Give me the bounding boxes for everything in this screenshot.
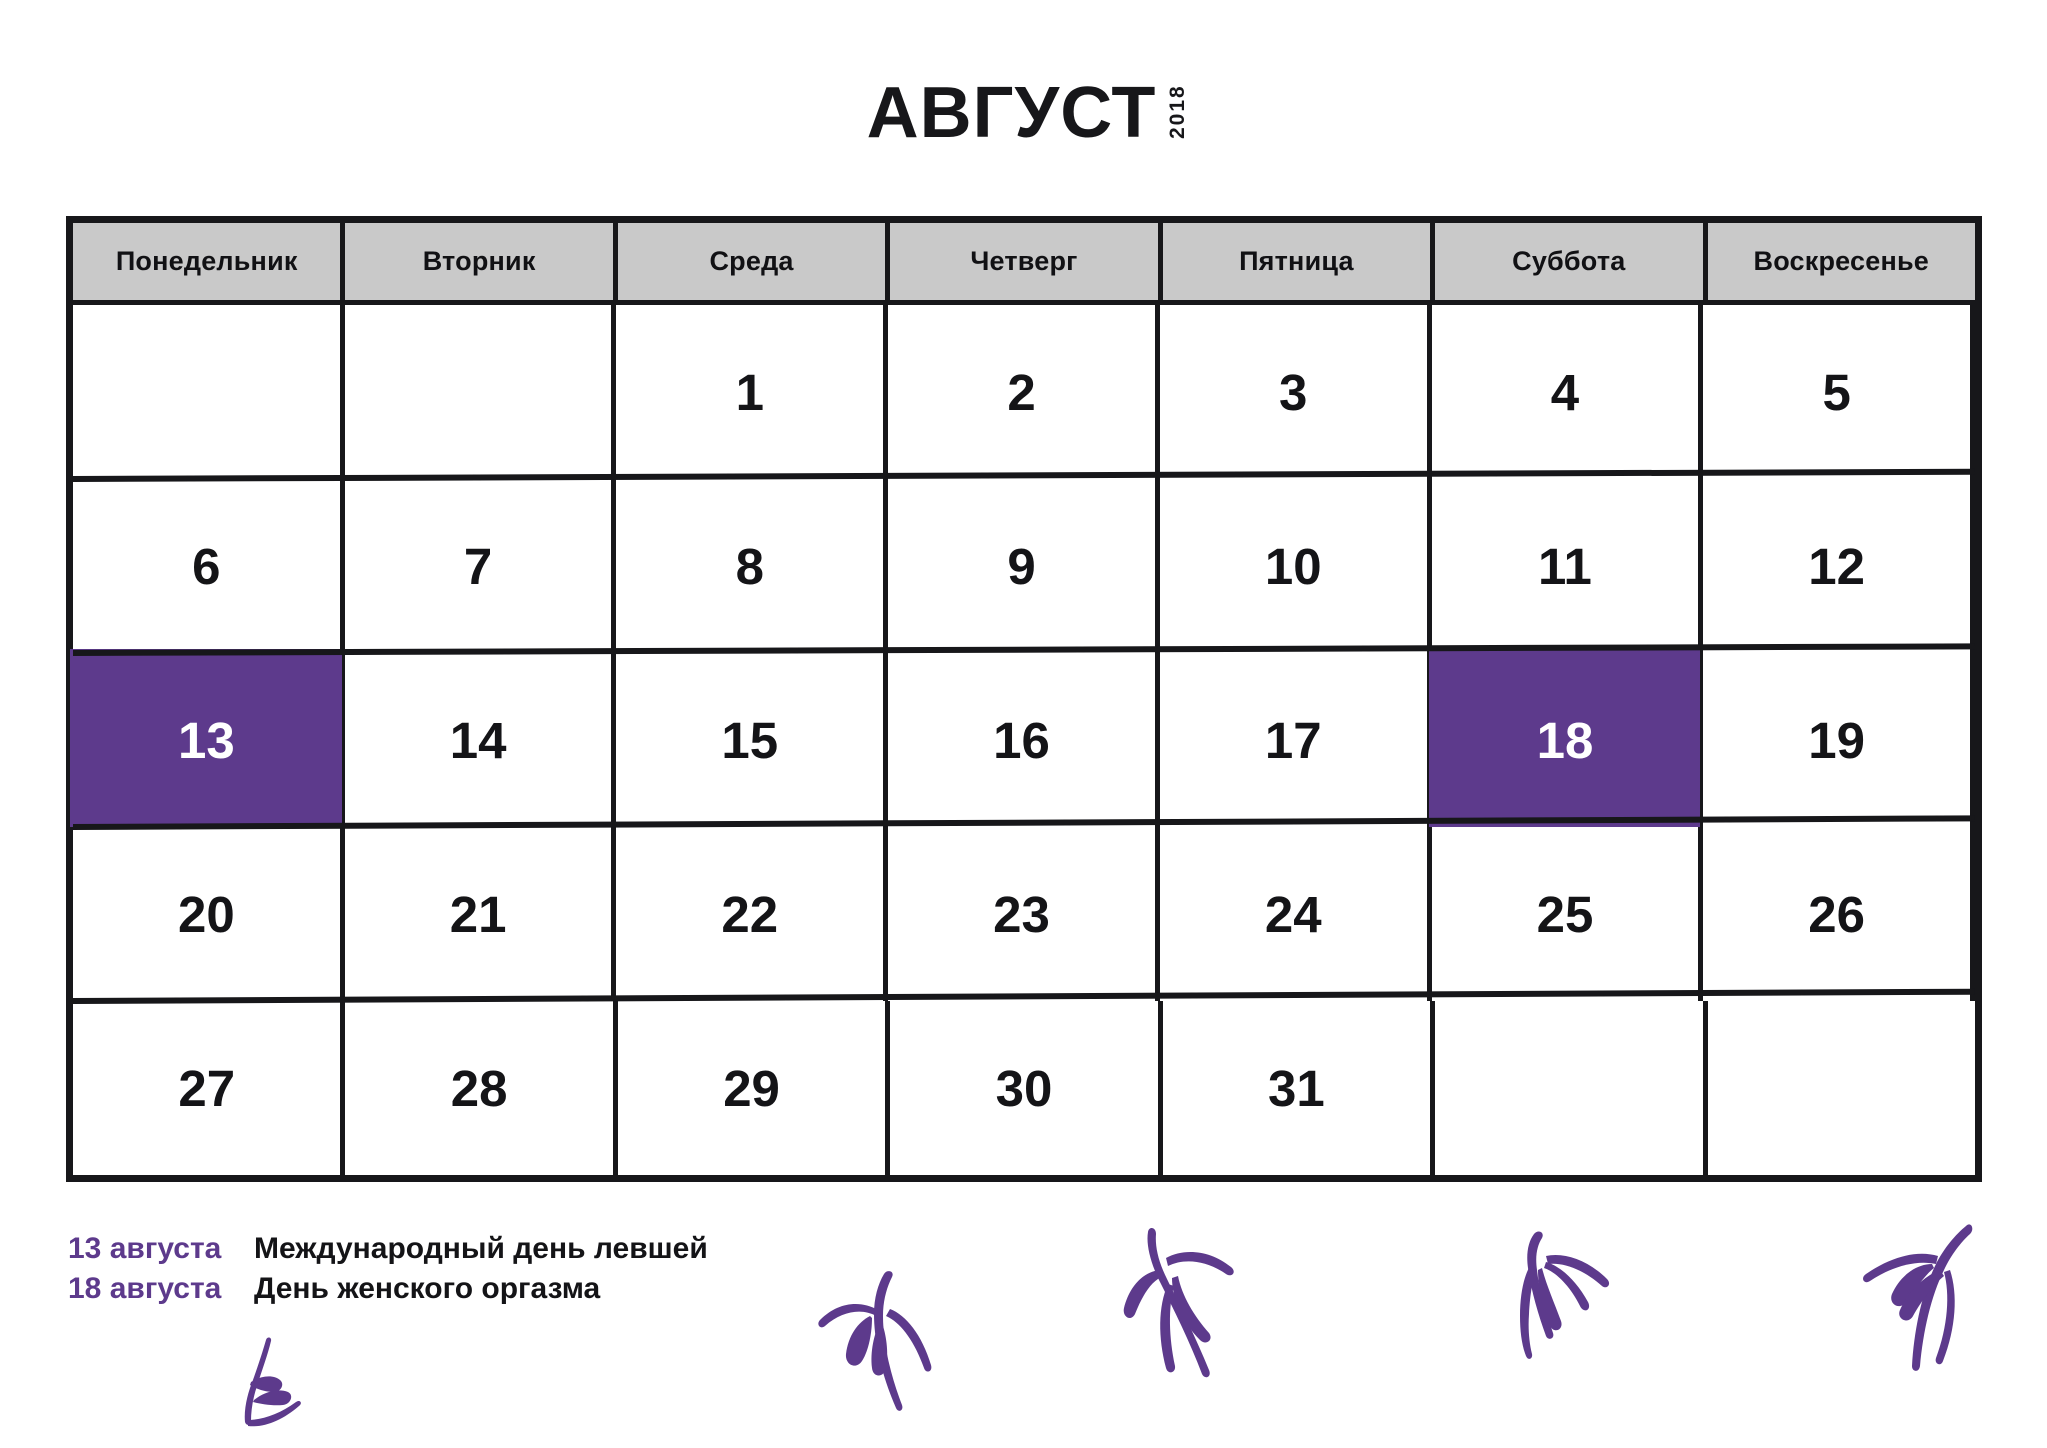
legend-description: Международный день левшей [254, 1232, 708, 1266]
day-number: 5 [1822, 367, 1850, 418]
weekday-header-row: Понедельник Вторник Среда Четверг Пятниц… [73, 223, 1975, 305]
day-number: 21 [450, 889, 507, 940]
day-cell[interactable]: 16 [888, 653, 1160, 827]
weekday-header-thursday: Четверг [890, 223, 1162, 305]
day-cell[interactable]: 2 [888, 305, 1160, 479]
day-number: 22 [721, 889, 778, 940]
day-cell[interactable]: 19 [1703, 653, 1975, 827]
sprig-ornament-icon [1858, 1218, 1998, 1388]
day-cell[interactable] [1708, 1001, 1975, 1175]
week-row: 13 14 15 16 17 18 19 [73, 653, 1975, 827]
sprig-ornament-icon [1110, 1222, 1280, 1412]
day-cell[interactable]: 5 [1703, 305, 1975, 479]
day-number: 4 [1551, 367, 1579, 418]
day-number: 27 [178, 1063, 235, 1114]
day-number: 8 [736, 541, 764, 592]
day-number: 16 [993, 715, 1050, 766]
week-row: 27 28 29 30 31 [73, 1001, 1975, 1175]
day-cell[interactable]: 30 [890, 1001, 1162, 1175]
day-cell[interactable]: 26 [1703, 827, 1975, 1001]
day-cell[interactable]: 8 [616, 479, 888, 653]
weekday-header-friday: Пятница [1163, 223, 1435, 305]
day-number: 14 [450, 715, 507, 766]
day-cell[interactable]: 25 [1432, 827, 1704, 1001]
day-cell[interactable]: 10 [1160, 479, 1432, 653]
legend-description: День женского оргазма [254, 1272, 600, 1306]
day-number: 15 [721, 715, 778, 766]
week-row: 6 7 8 9 10 11 12 [73, 479, 1975, 653]
day-cell[interactable] [73, 305, 345, 479]
day-cell[interactable]: 1 [616, 305, 888, 479]
day-number: 12 [1808, 541, 1865, 592]
day-number: 25 [1537, 889, 1594, 940]
day-number: 24 [1265, 889, 1322, 940]
day-cell[interactable]: 9 [888, 479, 1160, 653]
legend: 13 августа Международный день левшей 18 … [68, 1232, 968, 1312]
legend-item: 13 августа Международный день левшей [68, 1232, 968, 1266]
day-cell[interactable]: 20 [73, 827, 345, 1001]
day-cell[interactable]: 11 [1432, 479, 1704, 653]
month-title: АВГУСТ [867, 72, 1157, 154]
week-row: 20 21 22 23 24 25 26 [73, 827, 1975, 1001]
day-number: 3 [1279, 367, 1307, 418]
week-row: 1 2 3 4 5 [73, 305, 1975, 479]
day-cell[interactable]: 12 [1703, 479, 1975, 653]
weekday-header-tuesday: Вторник [345, 223, 617, 305]
day-number: 11 [1538, 541, 1592, 592]
day-number: 26 [1808, 889, 1865, 940]
day-cell[interactable]: 15 [616, 653, 888, 827]
day-number: 17 [1265, 715, 1322, 766]
day-number: 18 [1537, 715, 1594, 766]
calendar-page: АВГУСТ2018 Понедельник Вторник Среда Чет… [0, 0, 2047, 1448]
day-cell[interactable]: 14 [345, 653, 617, 827]
day-cell[interactable]: 22 [616, 827, 888, 1001]
day-number: 20 [178, 889, 235, 940]
weekday-header-monday: Понедельник [73, 223, 345, 305]
day-cell[interactable]: 31 [1163, 1001, 1435, 1175]
day-cell-highlighted[interactable]: 13 [73, 653, 345, 827]
day-number: 28 [451, 1063, 508, 1114]
day-number: 19 [1808, 715, 1865, 766]
day-cell[interactable] [1435, 1001, 1707, 1175]
year-label: 2018 [1166, 83, 1190, 141]
day-number: 6 [192, 541, 220, 592]
day-cell-highlighted[interactable]: 18 [1432, 653, 1704, 827]
weekday-header-wednesday: Среда [618, 223, 890, 305]
day-cell[interactable]: 24 [1160, 827, 1432, 1001]
weekday-header-sunday: Воскресенье [1708, 223, 1975, 305]
day-number: 10 [1265, 541, 1322, 592]
day-number: 23 [993, 889, 1050, 940]
legend-date: 18 августа [68, 1272, 254, 1306]
day-number: 13 [178, 715, 235, 766]
day-cell[interactable]: 27 [73, 1001, 345, 1175]
day-cell[interactable] [345, 305, 617, 479]
calendar-grid: Понедельник Вторник Среда Четверг Пятниц… [66, 216, 1982, 1182]
day-cell[interactable]: 7 [345, 479, 617, 653]
day-number: 29 [723, 1063, 780, 1114]
sprig-ornament-icon [1512, 1228, 1642, 1388]
day-number: 31 [1268, 1063, 1325, 1114]
legend-item: 18 августа День женского оргазма [68, 1272, 968, 1306]
day-cell[interactable]: 28 [345, 1001, 617, 1175]
weekday-header-saturday: Суббота [1435, 223, 1707, 305]
day-cell[interactable]: 3 [1160, 305, 1432, 479]
day-cell[interactable]: 17 [1160, 653, 1432, 827]
day-cell[interactable]: 23 [888, 827, 1160, 1001]
legend-date: 13 августа [68, 1232, 254, 1266]
day-cell[interactable]: 21 [345, 827, 617, 1001]
day-cell[interactable]: 29 [618, 1001, 890, 1175]
day-number: 9 [1007, 541, 1035, 592]
day-cell[interactable]: 4 [1432, 305, 1704, 479]
day-cell[interactable]: 6 [73, 479, 345, 653]
day-number: 30 [996, 1063, 1053, 1114]
day-number: 7 [464, 541, 492, 592]
day-number: 2 [1007, 367, 1035, 418]
page-title: АВГУСТ2018 [0, 72, 2047, 154]
sprig-ornament-icon [218, 1338, 318, 1443]
day-number: 1 [736, 367, 764, 418]
